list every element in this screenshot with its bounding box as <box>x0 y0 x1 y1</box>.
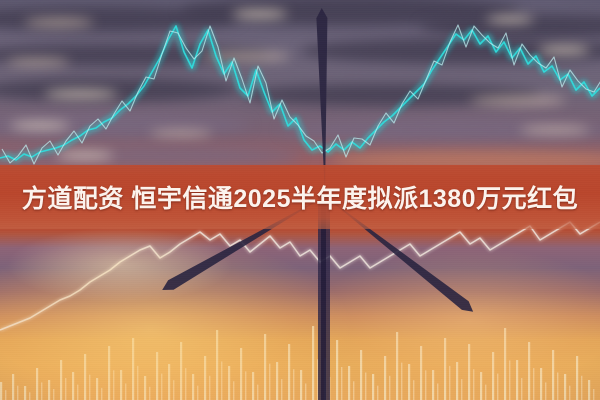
vignette-overlay <box>0 0 600 400</box>
news-banner-image: 方道配资 恒宇信通2025半年度拟派1380万元红包 <box>0 0 600 400</box>
